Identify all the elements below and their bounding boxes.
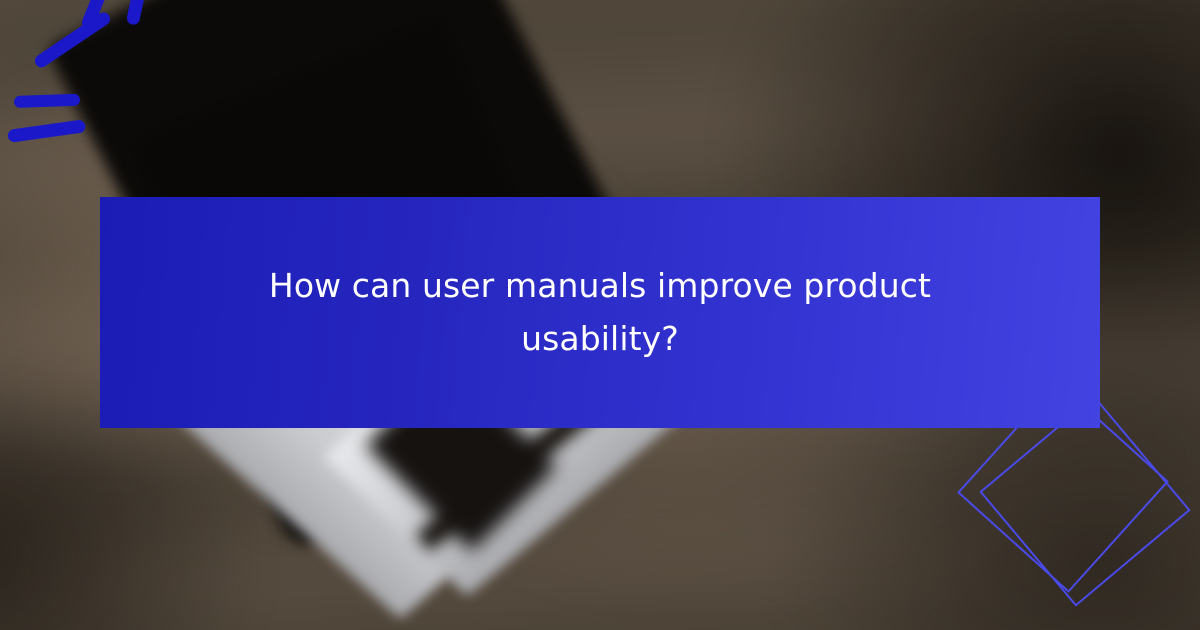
starburst-line-3	[32, 10, 112, 70]
social-card-canvas: How can user manuals improve product usa…	[0, 0, 1200, 630]
headline-text: How can user manuals improve product usa…	[220, 260, 980, 364]
starburst-line-1	[7, 119, 86, 143]
headline-banner: How can user manuals improve product usa…	[100, 197, 1100, 428]
starburst-line-5	[126, 0, 154, 26]
starburst-line-2	[14, 94, 80, 108]
overlapping-squares-decoration	[970, 400, 1200, 630]
starburst-decoration	[0, 0, 210, 180]
